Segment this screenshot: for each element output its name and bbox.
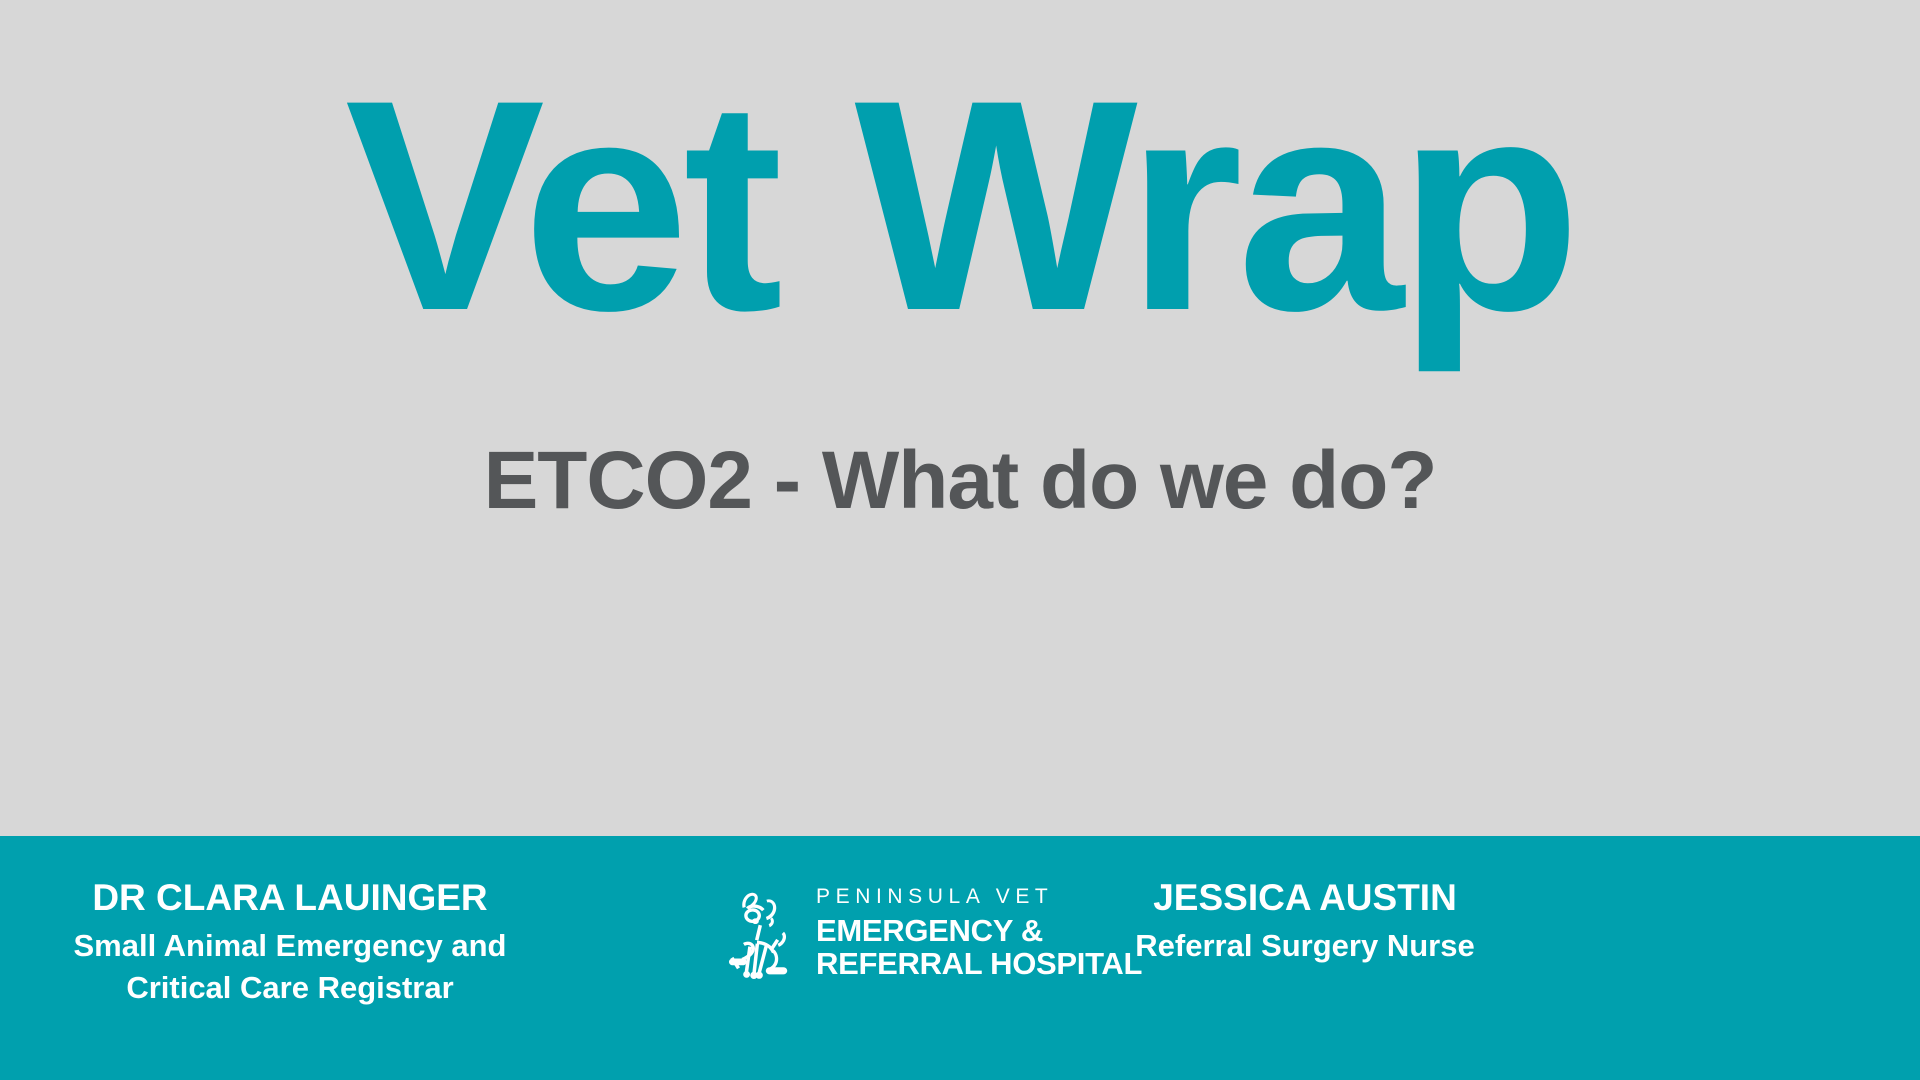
presenter-block-left: DR CLARA LAUINGER Small Animal Emergency… [30,876,550,1010]
presentation-slide: Vet Wrap ETCO2 - What do we do? DR CLARA… [0,0,1920,1080]
footer-content: DR CLARA LAUINGER Small Animal Emergency… [0,836,1920,1080]
presenter-left-role-line-1: Small Animal Emergency and [30,925,550,967]
peninsula-vet-logo: PENINSULA VET EMERGENCY & REFERRAL HOSPI… [728,884,1142,988]
peninsula-vet-dog-mark-icon [728,886,804,988]
slide-title: Vet Wrap [0,55,1920,355]
slide-subtitle: ETCO2 - What do we do? [0,440,1920,522]
slide-hero-area: Vet Wrap ETCO2 - What do we do? [0,0,1920,836]
presenter-right-name: JESSICA AUSTIN [1090,876,1520,920]
slide-footer-bar: DR CLARA LAUINGER Small Animal Emergency… [0,836,1920,1080]
presenter-right-role: Referral Surgery Nurse [1090,925,1520,967]
presenter-left-name: DR CLARA LAUINGER [30,876,550,920]
presenter-block-right: JESSICA AUSTIN Referral Surgery Nurse [1090,876,1520,967]
presenter-left-role-line-2: Critical Care Registrar [30,967,550,1009]
presenter-left-role: Small Animal Emergency and Critical Care… [30,925,550,1010]
presenter-right-role-line-1: Referral Surgery Nurse [1090,925,1520,967]
